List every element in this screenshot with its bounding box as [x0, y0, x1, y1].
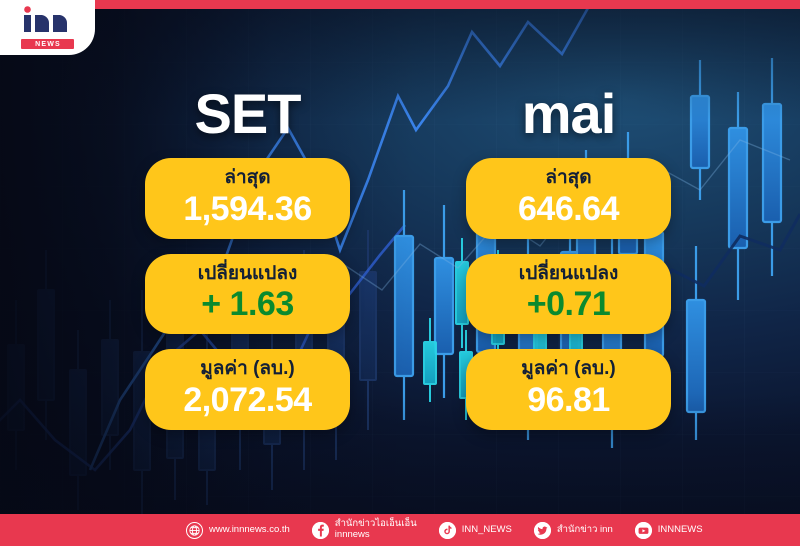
footer-website-text: www.innnews.co.th [209, 525, 290, 536]
footer-twitter[interactable]: สำนักข่าว inn [534, 522, 613, 539]
index-column-mai: mai ล่าสุด 646.64 เปลี่ยนแปลง +0.71 มูลค… [466, 86, 671, 445]
footer-tiktok[interactable]: INN_NEWS [439, 522, 512, 539]
footer-twitter-text: สำนักข่าว inn [557, 525, 613, 536]
footer-social-bar: www.innnews.co.th สำนักข่าวไอเอ็นเอ็น in… [0, 514, 800, 546]
youtube-icon [635, 522, 652, 539]
mai-card-last: ล่าสุด 646.64 [466, 158, 671, 239]
mai-card-change: เปลี่ยนแปลง +0.71 [466, 254, 671, 335]
tiktok-icon [439, 522, 456, 539]
mai-label-value: มูลค่า (ลบ.) [476, 358, 661, 381]
background-artwork [0, 0, 800, 546]
footer-facebook[interactable]: สำนักข่าวไอเอ็นเอ็น innnews [312, 519, 417, 541]
mai-value-last: 646.64 [476, 191, 661, 228]
footer-youtube[interactable]: INNNEWS [635, 522, 703, 539]
set-value-change: + 1.63 [155, 286, 340, 323]
set-label-change: เปลี่ยนแปลง [155, 263, 340, 286]
twitter-icon [534, 522, 551, 539]
footer-facebook-line1: สำนักข่าวไอเอ็นเอ็น [335, 518, 417, 529]
mai-label-last: ล่าสุด [476, 167, 661, 190]
footer-youtube-text: INNNEWS [658, 525, 703, 536]
index-title-set: SET [145, 86, 350, 144]
inn-news-logo: NEWS [0, 0, 95, 55]
index-title-mai: mai [466, 86, 671, 144]
set-label-last: ล่าสุด [155, 167, 340, 190]
mai-value-change: +0.71 [476, 286, 661, 323]
facebook-icon [312, 522, 329, 539]
set-card-value: มูลค่า (ลบ.) 2,072.54 [145, 349, 350, 430]
mai-value-turnover: 96.81 [476, 382, 661, 419]
index-column-set: SET ล่าสุด 1,594.36 เปลี่ยนแปลง + 1.63 ม… [145, 86, 350, 445]
mai-card-value: มูลค่า (ลบ.) 96.81 [466, 349, 671, 430]
background-edge-vignette [0, 0, 800, 546]
footer-tiktok-text: INN_NEWS [462, 525, 512, 536]
set-value-last: 1,594.36 [155, 191, 340, 228]
footer-facebook-text: สำนักข่าวไอเอ็นเอ็น innnews [335, 519, 417, 541]
inn-logo-glyph-icon [20, 6, 76, 32]
set-value-turnover: 2,072.54 [155, 382, 340, 419]
stock-summary-graphic: NEWS SET ล่าสุด 1,594.36 เปลี่ยนแปลง + 1… [0, 0, 800, 546]
footer-facebook-line2: innnews [335, 530, 417, 541]
mai-label-change: เปลี่ยนแปลง [476, 263, 661, 286]
footer-website[interactable]: www.innnews.co.th [186, 522, 290, 539]
set-card-change: เปลี่ยนแปลง + 1.63 [145, 254, 350, 335]
globe-icon [186, 522, 203, 539]
inn-news-badge: NEWS [21, 39, 74, 49]
top-accent-bar [0, 0, 800, 9]
set-label-value: มูลค่า (ลบ.) [155, 358, 340, 381]
inn-wordmark-icon [20, 6, 76, 37]
set-card-last: ล่าสุด 1,594.36 [145, 158, 350, 239]
